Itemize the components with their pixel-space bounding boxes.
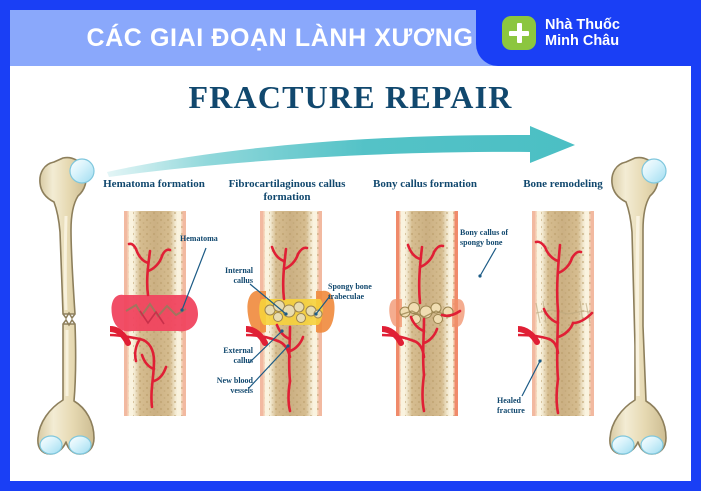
stage-label-fibrocartilaginous-callus-formation: Fibrocartilaginous callus formation	[222, 178, 352, 204]
brand-line-2: Minh Châu	[545, 33, 620, 49]
callout-hematoma: Hematoma	[180, 234, 218, 244]
plus-vertical-bar	[517, 23, 522, 43]
callout-bony-callus-of-spongy-bone: Bony callus of spongy bone	[460, 228, 508, 247]
callout-spongy-bone-trabeculae: Spongy bone trabeculae	[328, 282, 372, 301]
content-canvas: FRACTURE REPAIR Hematoma formation Fibro…	[10, 66, 691, 481]
main-title: FRACTURE REPAIR	[10, 79, 691, 116]
bone-fibrocartilaginous-callus-cross-section	[246, 211, 336, 416]
stage-label-hematoma-formation: Hematoma formation	[89, 178, 219, 191]
brand-name: Nhà Thuốc Minh Châu	[545, 17, 620, 49]
callout-healed-fracture: Healed fracture	[497, 396, 525, 415]
page-title: CÁC GIAI ĐOẠN LÀNH XƯƠNG	[86, 24, 473, 53]
callout-new-blood-vessels: New blood vessels	[190, 376, 253, 395]
callout-external-callus: External callus	[195, 346, 253, 365]
brand-logo-block[interactable]: Nhà Thuốc Minh Châu	[476, 0, 701, 66]
callout-internal-callus: Internal callus	[195, 266, 253, 285]
fractured-femur-icon	[30, 146, 102, 466]
brand-line-1: Nhà Thuốc	[545, 17, 620, 33]
bone-remodeled-cross-section	[518, 211, 608, 416]
header-band: CÁC GIAI ĐOẠN LÀNH XƯƠNG	[10, 10, 550, 66]
plus-cross-icon	[502, 16, 536, 50]
stage-label-bony-callus-formation: Bony callus formation	[360, 178, 490, 191]
bone-bony-callus-cross-section	[382, 211, 472, 416]
infographic-root: CÁC GIAI ĐOẠN LÀNH XƯƠNG Nhà Thuốc Minh …	[0, 0, 701, 491]
curved-right-arrow-icon	[105, 126, 605, 181]
healed-femur-icon	[602, 146, 674, 466]
